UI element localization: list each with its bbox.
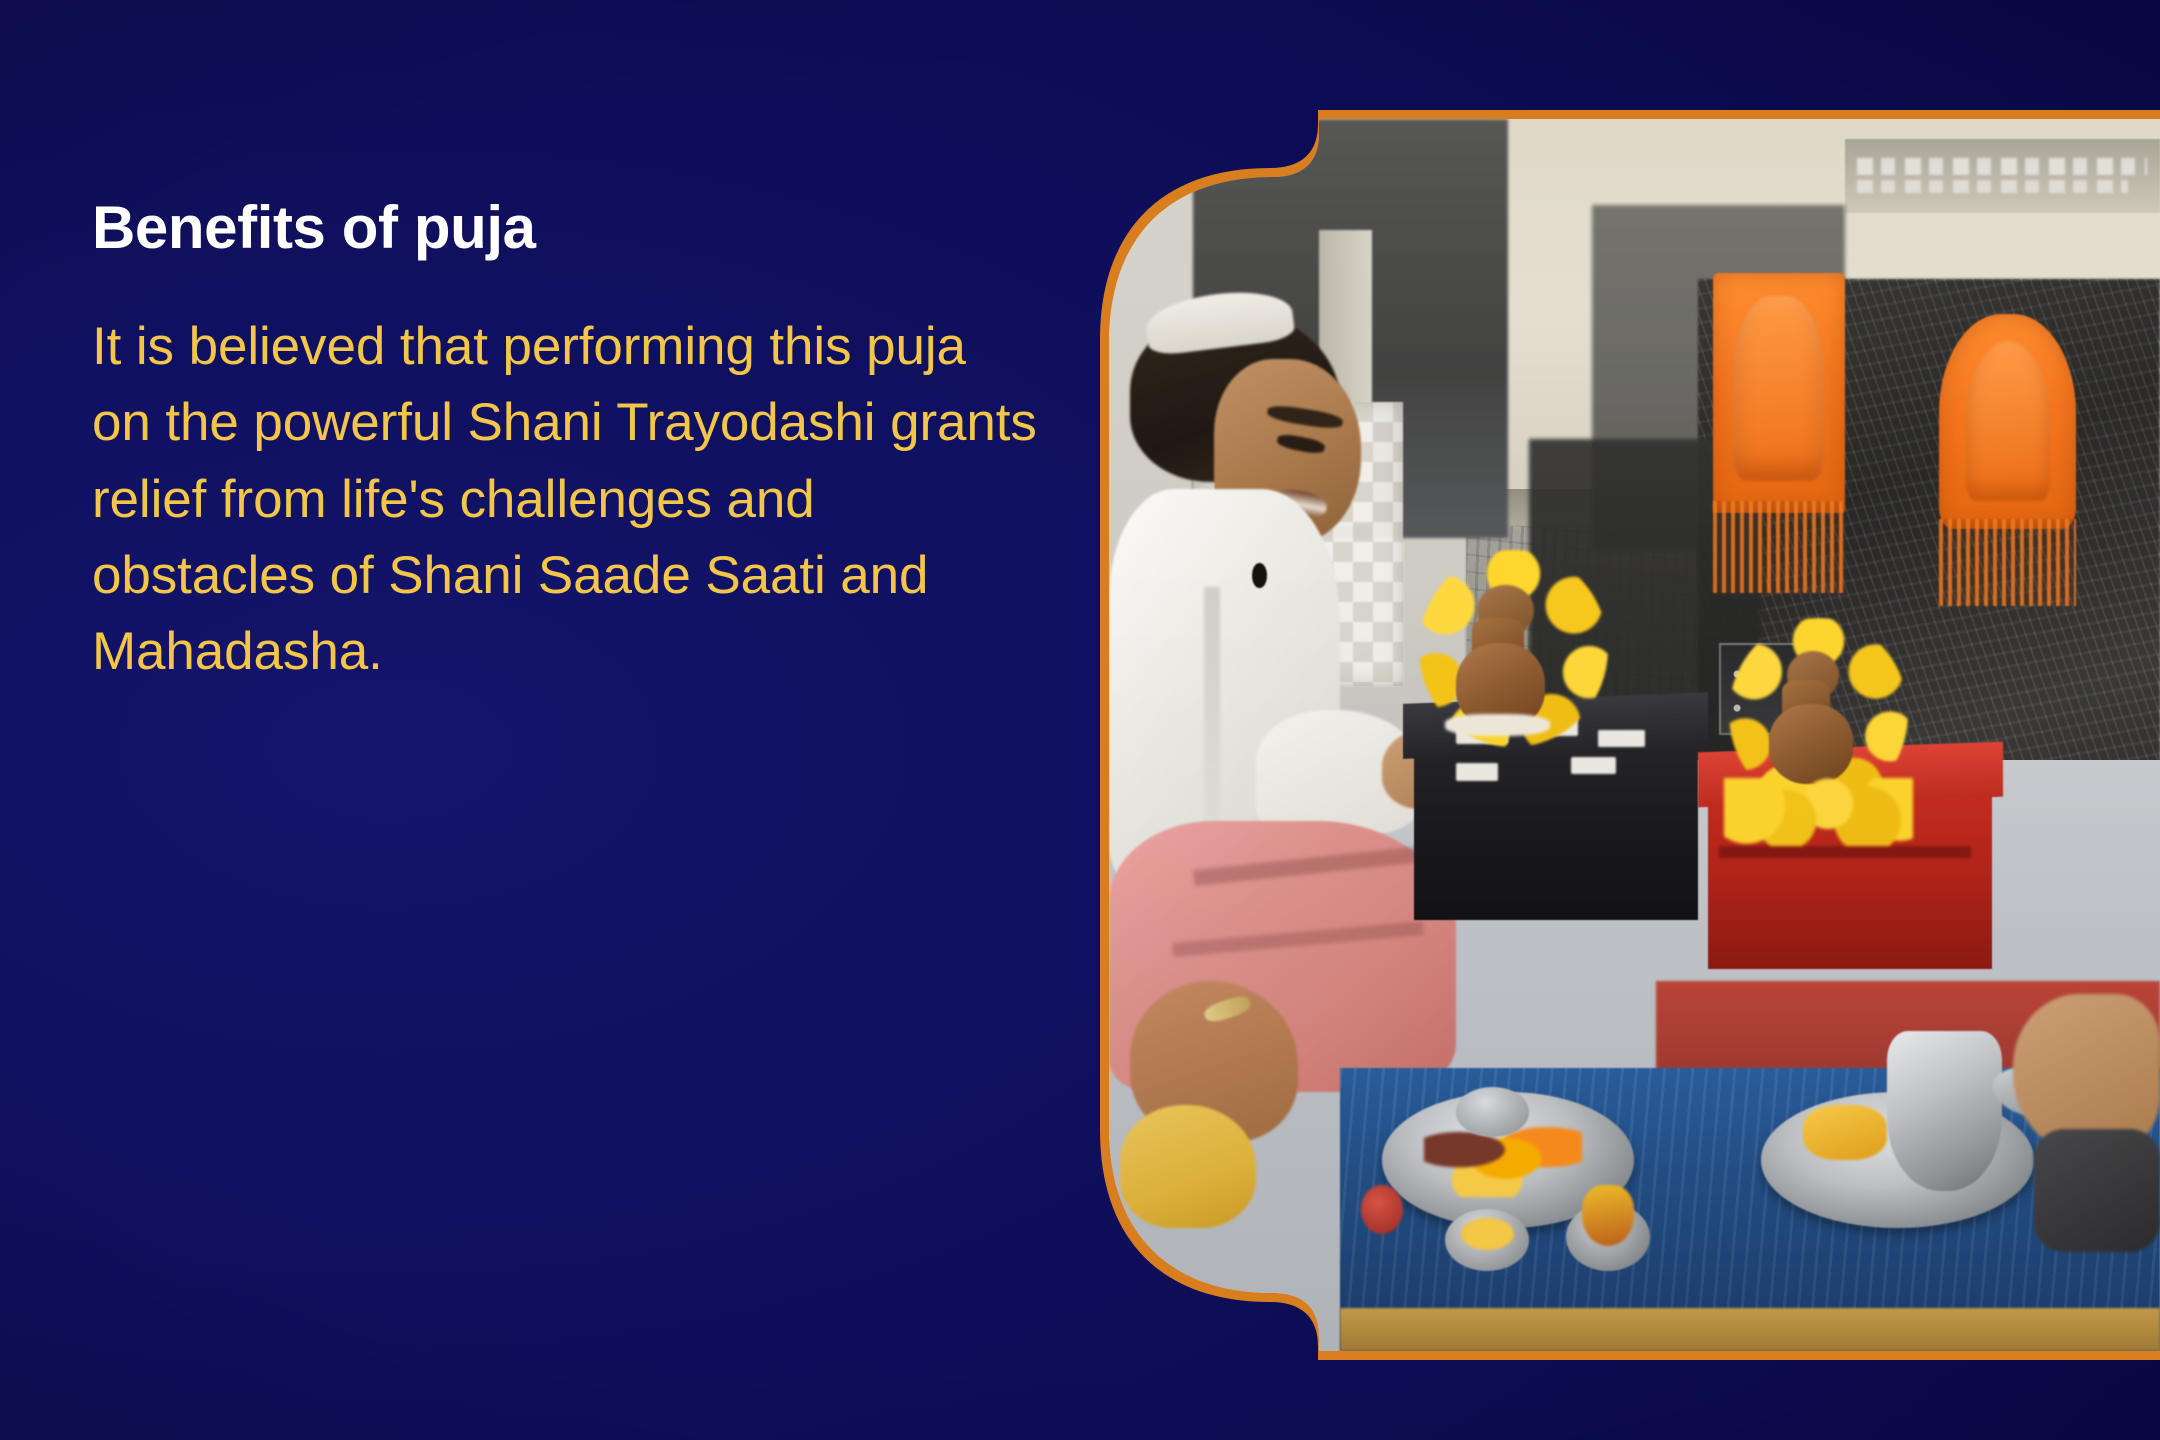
thali-offerings-right (1803, 1105, 1887, 1160)
yellow-cloth (1120, 1105, 1257, 1228)
page-title: Benefits of puja (92, 196, 1052, 259)
sindoor-deity-left-form (1733, 296, 1823, 481)
marigold-petals-right (1724, 778, 1913, 846)
photo-frame (1100, 110, 2160, 1360)
marigold-fringe-left (1713, 501, 1844, 593)
kalash-base-left (1445, 714, 1550, 736)
mat-golden-border (1340, 1308, 2160, 1351)
stand-marking (1456, 763, 1498, 780)
body-paragraph: It is believed that performing this puja… (92, 309, 1037, 691)
dark-object-right (2034, 1129, 2160, 1252)
devanagari-signboard (1845, 139, 2160, 213)
katori-one-contents (1461, 1218, 1514, 1250)
sindoor-deity-right-form (1966, 341, 2050, 501)
steel-lota-vessel (1887, 1031, 2003, 1191)
sign-text-line-2 (1857, 180, 2128, 193)
kurta-fold (1204, 587, 1221, 858)
text-column: Benefits of puja It is believed that per… (92, 196, 1052, 691)
kalash-pot-right (1769, 704, 1853, 784)
marigold-fringe-right (1939, 519, 2076, 605)
lapel-microphone-icon (1252, 563, 1267, 589)
steel-bowl-left (1456, 1087, 1530, 1136)
red-offering (1361, 1185, 1403, 1234)
red-stand-edge (1719, 846, 1971, 858)
puja-photograph (1109, 119, 2160, 1351)
stand-marking (1598, 730, 1645, 747)
stand-marking (1571, 757, 1615, 774)
sign-text-line-1 (1857, 158, 2147, 175)
